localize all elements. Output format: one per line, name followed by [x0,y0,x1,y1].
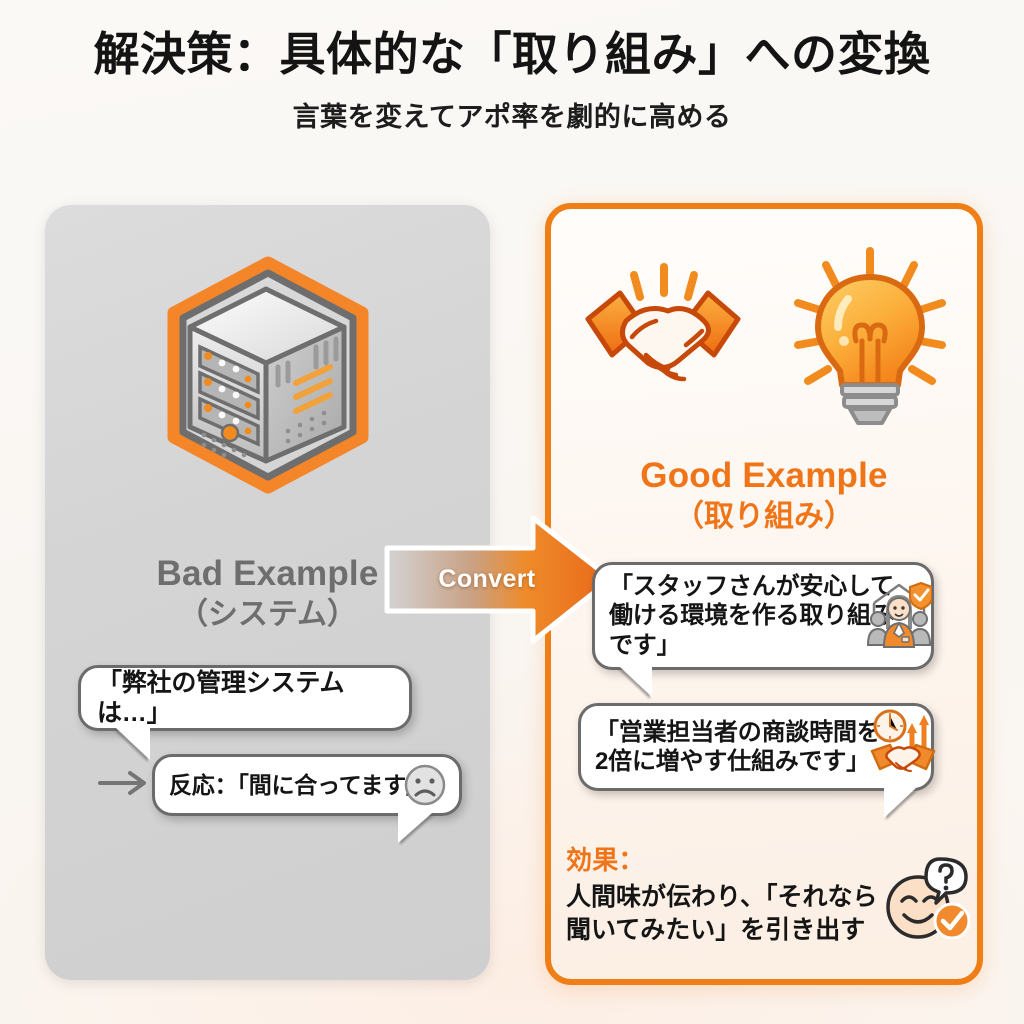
good-heading-en: Good Example [545,455,983,496]
lightbulb-icon [790,245,950,430]
page-subtitle: 言葉を変えてアポ率を劇的に高める [0,95,1024,134]
bad-bubble-2-text: 反応：「間に合ってます」 [169,771,429,799]
bad-bubble-1-text: 「弊社の管理システムは…」 [97,668,393,729]
bad-bubble-2-tail [398,813,446,843]
page-title: 解決策：具体的な「取り組み」への変換 [0,28,1024,81]
sad-face-icon [402,762,448,808]
good-bubble-2-tail [884,788,928,818]
smiley-question-check-icon [882,855,974,943]
arrow-right-icon [98,768,150,798]
handshake-icon [568,245,758,425]
staff-team-shield-icon [866,575,932,649]
convert-arrow-icon [383,512,615,647]
good-bubble-1-text: 「スタッフさんが安心して 働ける環境を作る取り組み です」 [609,572,895,660]
good-bubble-2-text: 「営業担当者の商談時間を 2倍に増やす仕組みです」 [595,718,881,777]
bad-bubble-1: 「弊社の管理システムは…」 [78,665,412,731]
bad-bubble-1-tail [102,728,150,760]
clock-growth-handshake-icon [868,707,938,777]
good-bubble-1-tail [608,667,652,697]
infographic-canvas: 解決策：具体的な「取り組み」への変換 言葉を変えてアポ率を劇的に高める [0,0,1024,1024]
header: 解決策：具体的な「取り組み」への変換 言葉を変えてアポ率を劇的に高める [0,28,1024,134]
server-rack-icon [148,255,388,495]
